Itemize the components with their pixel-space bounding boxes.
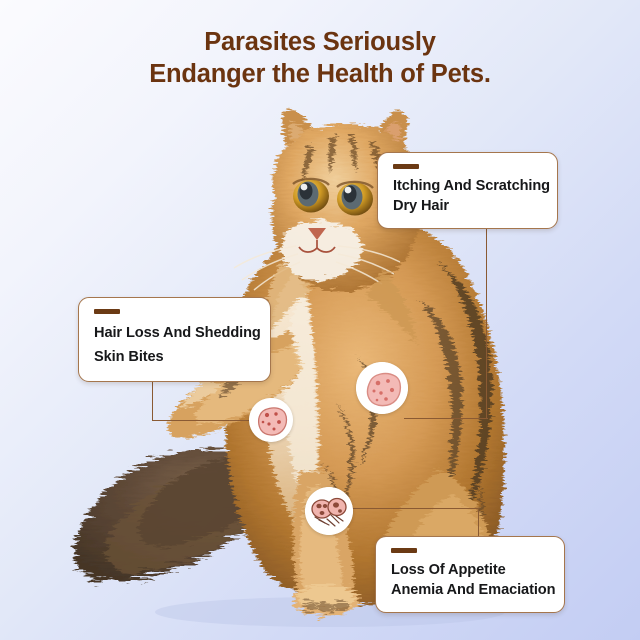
accent-dash [94, 309, 120, 314]
infographic-poster: Parasites Seriously Endanger the Health … [0, 0, 640, 640]
callout-line-1: Loss Of Appetite [391, 560, 550, 580]
callout-loss-of-appetite[interactable]: Loss Of Appetite Anemia And Emaciation [375, 536, 565, 613]
inflamed-skin-patch-icon [356, 362, 408, 414]
callout-line-1: Itching And Scratching [393, 176, 543, 196]
callout-hair-loss-and-shedding[interactable]: Hair Loss And Shedding Skin Bites [78, 297, 271, 382]
callout-line-1: Hair Loss And Shedding [94, 321, 256, 345]
inflamed-skin-patch-icon [249, 398, 293, 442]
title-line-2: Endanger the Health of Pets. [0, 58, 640, 90]
accent-dash [391, 548, 417, 553]
page-title: Parasites Seriously Endanger the Health … [0, 26, 640, 90]
callout-line-2: Dry Hair [393, 196, 543, 216]
callout-itching-and-scratching[interactable]: Itching And Scratching Dry Hair [377, 152, 558, 229]
tick-mite-icon [305, 487, 353, 535]
accent-dash [393, 164, 419, 169]
callout-line-2: Anemia And Emaciation [391, 580, 550, 600]
callout-line-2: Skin Bites [94, 345, 256, 369]
title-line-1: Parasites Seriously [0, 26, 640, 58]
